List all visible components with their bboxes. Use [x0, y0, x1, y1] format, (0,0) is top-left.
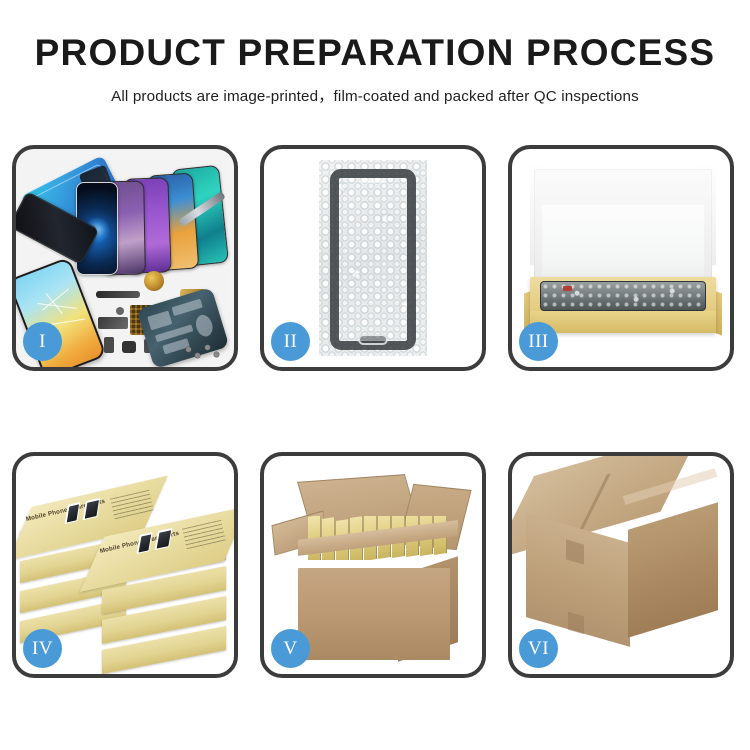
step-badge-4: IV — [23, 629, 62, 668]
step-badge-3: III — [519, 322, 558, 361]
process-step-panel-1[interactable]: I — [12, 145, 238, 371]
box-front-panel-icon — [530, 311, 716, 333]
camera-lens-icon — [193, 313, 215, 339]
board-chip-icon — [171, 299, 202, 316]
coil-part-icon — [144, 271, 164, 291]
small-part-icon — [116, 307, 124, 315]
process-step-panel-5[interactable]: V — [260, 452, 486, 678]
red-label-icon — [563, 286, 572, 291]
step-6-photo — [526, 476, 720, 656]
screen-glass-frame-icon — [330, 169, 416, 350]
carton-front-face-icon — [298, 568, 450, 660]
step-badge-1: I — [23, 322, 62, 361]
carton-tab-icon — [568, 612, 584, 635]
header: PRODUCT PREPARATION PROCESS All products… — [0, 34, 750, 106]
step-3-photo — [530, 157, 716, 353]
screws-icon — [184, 343, 224, 361]
board-chip-icon — [147, 311, 172, 331]
carton-right-face-icon — [628, 502, 718, 638]
product-preparation-process-infographic: PRODUCT PREPARATION PROCESS All products… — [0, 0, 750, 750]
process-step-grid: I II — [12, 145, 738, 678]
packed-screen-icon — [540, 281, 706, 311]
earpiece-slot-icon — [360, 179, 386, 183]
step-badge-6: VI — [519, 629, 558, 668]
process-step-panel-6[interactable]: VI — [508, 452, 734, 678]
small-part-icon — [122, 341, 136, 353]
process-step-panel-3[interactable]: III — [508, 145, 734, 371]
step-badge-5: V — [271, 629, 310, 668]
small-part-icon — [104, 337, 114, 353]
foam-liner-icon — [542, 205, 704, 287]
camera-module-icon — [98, 317, 128, 329]
home-button-icon — [358, 334, 388, 345]
bubble-wrapped-screen-icon — [319, 160, 427, 356]
page-subtitle: All products are image-printed，film-coat… — [0, 84, 750, 106]
process-step-panel-4[interactable]: Mobile Phone Spare Parts Mobile Phone Sp… — [12, 452, 238, 678]
step-badge-2: II — [271, 322, 310, 361]
process-step-panel-2[interactable]: II — [260, 145, 486, 371]
page-title: PRODUCT PREPARATION PROCESS — [0, 34, 750, 73]
phone-lineup-icon — [68, 165, 238, 273]
flex-cable-icon — [96, 291, 140, 298]
